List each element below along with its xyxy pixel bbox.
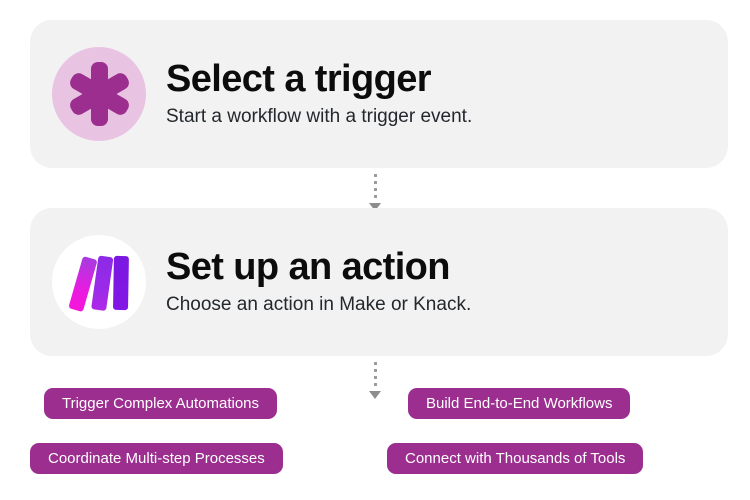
knack-bar-3 <box>113 256 129 310</box>
workflow-steps-canvas: Select a trigger Start a workflow with a… <box>0 0 750 500</box>
knack-glyph <box>68 254 130 310</box>
step-description: Start a workflow with a trigger event. <box>166 105 472 129</box>
asterisk-glyph <box>66 61 132 127</box>
connector-arrow-head <box>369 391 381 399</box>
connector-dot <box>374 195 377 198</box>
connector-dot <box>374 174 377 177</box>
connector-dot <box>374 383 377 386</box>
step-card-set-up-an-action[interactable]: Set up an action Choose an action in Mak… <box>30 208 728 356</box>
step-description: Choose an action in Make or Knack. <box>166 293 471 317</box>
feature-pill-trigger-complex-automations[interactable]: Trigger Complex Automations <box>44 388 277 419</box>
connector-dot <box>374 376 377 379</box>
step-text-block: Set up an action Choose an action in Mak… <box>166 247 471 316</box>
feature-pill-build-end-to-end-workflows[interactable]: Build End-to-End Workflows <box>408 388 630 419</box>
connector-dot <box>374 362 377 365</box>
dotted-down-arrow-icon <box>366 174 384 211</box>
connector-dot <box>374 181 377 184</box>
connector-dot <box>374 188 377 191</box>
step-card-select-a-trigger[interactable]: Select a trigger Start a workflow with a… <box>30 20 728 168</box>
feature-pill-connect-with-thousands-of-tools[interactable]: Connect with Thousands of Tools <box>387 443 643 474</box>
feature-pill-coordinate-multi-step-processes[interactable]: Coordinate Multi-step Processes <box>30 443 283 474</box>
connector-dot <box>374 369 377 372</box>
step-title: Set up an action <box>166 247 471 287</box>
knack-bars-icon <box>52 235 146 329</box>
step-title: Select a trigger <box>166 59 472 99</box>
make-asterisk-icon <box>52 47 146 141</box>
step-text-block: Select a trigger Start a workflow with a… <box>166 59 472 128</box>
dotted-down-arrow-icon <box>366 362 384 399</box>
